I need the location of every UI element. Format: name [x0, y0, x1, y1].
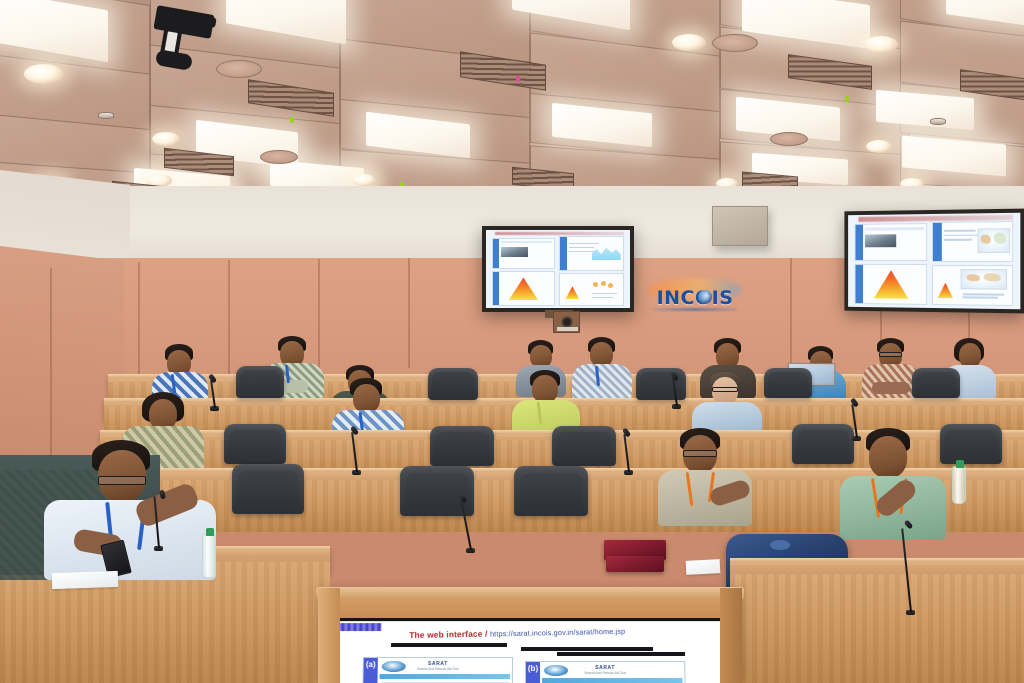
search-area-triangle [565, 286, 579, 299]
center-wall-display[interactable] [482, 226, 634, 312]
ceiling-marker-tag [290, 117, 294, 123]
slide-panel-browser-map [932, 222, 1013, 262]
redaction-bar [557, 652, 685, 656]
app-subtitle: Search And Rescue Aid Tool [417, 667, 459, 671]
paper-sheet[interactable] [686, 559, 721, 575]
taskbar-icon [335, 623, 381, 631]
search-area-triangle [874, 270, 909, 299]
sarat-logo-icon [544, 665, 568, 676]
person-man-green-shirt-speaking [840, 428, 950, 538]
logo-swirl-icon [698, 290, 712, 304]
chair[interactable] [428, 368, 478, 400]
chair[interactable] [514, 466, 588, 516]
sarat-logo-icon [382, 661, 406, 672]
wall-seam [790, 258, 792, 368]
slide-panel-triangle-plot [492, 271, 555, 305]
wall-seam [50, 268, 52, 464]
glasses-icon [98, 476, 146, 485]
person-man-on-phone [44, 440, 222, 570]
slide-panel-browser [492, 238, 555, 269]
chair[interactable] [236, 366, 284, 398]
chair[interactable] [912, 368, 960, 398]
water-bottle[interactable] [952, 466, 966, 504]
chair[interactable] [430, 426, 494, 466]
ceiling-downlight [24, 64, 64, 84]
world-map-thumbnail [961, 269, 1007, 290]
slide-panel-browser [855, 223, 927, 261]
ceiling-diffuser [770, 132, 808, 146]
award-box[interactable] [606, 556, 664, 572]
slide-title: The web interface / https://sarat.incois… [409, 624, 709, 640]
search-area-triangle [938, 283, 954, 299]
slide-title-bar [858, 215, 1013, 222]
slide-panel-small-triangle [559, 273, 624, 306]
glasses-icon [712, 387, 738, 392]
water-bottle[interactable] [202, 534, 216, 578]
slide-url-text: https://sarat.incois.gov.in/sarat/home.j… [490, 627, 625, 639]
slide-title-text: The web interface / [409, 629, 487, 641]
ceiling-downlight [672, 34, 706, 51]
redaction-bar [391, 643, 507, 647]
chair[interactable] [224, 424, 286, 464]
world-map-thumbnail [978, 229, 1010, 253]
wall-mounted-device [553, 311, 580, 333]
panel-a-tag: (a) [363, 658, 377, 683]
ceiling-downlight [152, 132, 180, 146]
wall-speaker [712, 206, 768, 246]
smoke-detector-icon [930, 118, 946, 125]
glasses-icon [683, 450, 717, 457]
app-subtitle: Search And Rescue Aid Tool [584, 671, 626, 675]
ceiling-downlight [864, 36, 898, 53]
slide-panel-triangle-plot [855, 264, 927, 305]
conference-room-photo: INCOIS [0, 0, 1024, 683]
desk-front-panel [0, 562, 330, 683]
nav-bar [380, 674, 510, 679]
logo-underline [653, 308, 737, 311]
paper-sheet[interactable] [52, 571, 119, 589]
ceiling-diffuser [216, 60, 262, 78]
desk-edge [730, 558, 1024, 562]
ceiling-diffuser [260, 150, 298, 164]
chair[interactable] [636, 368, 686, 400]
glasses-icon [879, 352, 902, 357]
podium-monitor[interactable]: The web interface / https://sarat.incois… [329, 618, 725, 683]
slide-title-bar [495, 232, 625, 236]
wall-seam [408, 258, 410, 368]
ceiling [0, 0, 1024, 215]
podium-left-post [318, 588, 340, 683]
right-wall-display[interactable] [844, 209, 1024, 314]
ceiling-downlight [352, 174, 376, 186]
smoke-detector-icon [98, 112, 114, 119]
redaction-bar [521, 647, 653, 651]
ceiling-diffuser [712, 34, 758, 52]
incois-logo-text: INCOIS [647, 287, 743, 309]
incois-logo: INCOIS [647, 281, 743, 317]
slide-panel-small-triangle [932, 265, 1013, 306]
desk-front-panel [730, 574, 1024, 683]
ceiling-downlight [866, 140, 892, 153]
podium-top-edge [316, 587, 744, 599]
nav-bar [542, 678, 682, 683]
person-man-beige-shirt [658, 428, 754, 524]
chair[interactable] [552, 426, 616, 466]
slide-panel-browser-chart [559, 236, 624, 270]
screenshot-panel-b: (b) SARAT Search And Rescue Aid Tool [525, 661, 686, 683]
ceiling-marker-tag [516, 76, 520, 82]
ceiling-marker-tag [845, 96, 849, 102]
chair[interactable] [764, 368, 812, 398]
podium-right-post [720, 588, 742, 683]
search-area-triangle [509, 277, 538, 300]
panel-b-tag: (b) [526, 662, 540, 683]
chair[interactable] [232, 464, 304, 514]
screenshot-panel-a: (a) SARAT Search And Rescue Aid Tool [362, 657, 513, 683]
